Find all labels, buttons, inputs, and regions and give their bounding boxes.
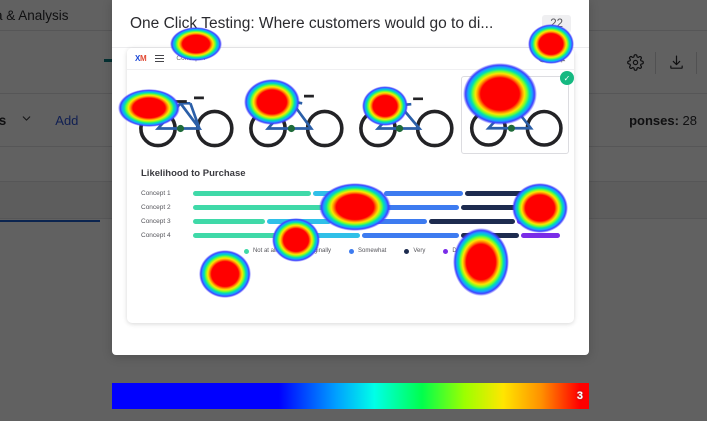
- chart-legend-dot: [295, 249, 300, 254]
- chart-legend-dot: [404, 249, 409, 254]
- modal-badge: 22: [542, 15, 571, 33]
- embedded-topbar: XM Concept T: [127, 48, 574, 70]
- chart-legend-item: Very: [404, 248, 425, 254]
- selected-check-icon: ✓: [560, 71, 574, 85]
- modal-header: One Click Testing: Where customers would…: [112, 0, 589, 48]
- embedded-screenshot: XM Concept T: [127, 48, 574, 323]
- chart-bar-segment: [331, 205, 367, 210]
- chart-bar-row: Concept 4: [141, 231, 560, 240]
- modal-title: One Click Testing: Where customers would…: [130, 15, 530, 33]
- chart-bar-segment: [193, 191, 311, 196]
- heatmap-gradient-bar: 3: [112, 383, 589, 409]
- chart-bar-segment: [267, 219, 332, 224]
- chart-bar-segment: [193, 219, 265, 224]
- chart-bar-label: Concept 1: [141, 190, 193, 197]
- chart-legend-label: Very: [413, 248, 425, 254]
- xm-logo: XM: [135, 54, 146, 63]
- chart-bar-segment: [429, 219, 515, 224]
- chart-bar-segment: [384, 191, 463, 196]
- bell-icon[interactable]: [557, 54, 566, 63]
- chart-bar-segment: [521, 233, 560, 238]
- chart-legend-item: Marginally: [295, 248, 331, 254]
- chart-title: Likelihood to Purchase: [141, 168, 560, 179]
- chart-bar-segment: [362, 233, 459, 238]
- chart-bar-track: [193, 233, 560, 238]
- screen-root: Data & Analysis: [0, 0, 707, 421]
- hamburger-menu-icon[interactable]: [155, 55, 164, 62]
- chart-bar-segment: [461, 205, 536, 210]
- chart-legend-item: Definitely: [443, 248, 477, 254]
- chart-legend-item: Somewhat: [349, 248, 386, 254]
- chart-bar-label: Concept 2: [141, 204, 193, 211]
- concept-thumbnail-4[interactable]: ✓: [461, 76, 569, 154]
- chart-legend-dot: [349, 249, 354, 254]
- chart-bar-segment: [538, 205, 560, 210]
- chart-bar-track: [193, 191, 560, 196]
- likelihood-chart: Likelihood to Purchase Concept 1Concept …: [127, 156, 574, 258]
- chart-bars: Concept 1Concept 2Concept 3Concept 4: [141, 189, 560, 240]
- embedded-topbar-icons: [538, 54, 566, 63]
- chart-legend: Not at allMarginallySomewhatVeryDefinite…: [141, 248, 560, 254]
- chart-bar-label: Concept 4: [141, 232, 193, 239]
- chart-bar-segment: [193, 205, 329, 210]
- chart-bar-segment: [193, 233, 301, 238]
- chart-bar-segment: [313, 191, 381, 196]
- chart-bar-segment: [333, 219, 426, 224]
- heatmap-gradient-value: 3: [577, 390, 583, 402]
- chart-legend-label: Somewhat: [358, 248, 386, 254]
- chart-bar-segment: [465, 191, 537, 196]
- chart-legend-dot: [443, 249, 448, 254]
- chart-bar-label: Concept 3: [141, 218, 193, 225]
- concept-thumbnail-2[interactable]: [241, 76, 349, 154]
- chart-legend-item: Not at all: [244, 248, 277, 254]
- chart-legend-dot: [244, 249, 249, 254]
- concept-thumbnail-3[interactable]: [351, 76, 459, 154]
- chart-legend-label: Marginally: [304, 248, 331, 254]
- chart-bar-segment: [303, 233, 360, 238]
- concept-thumbnail-1[interactable]: [131, 76, 239, 154]
- clock-icon[interactable]: [538, 54, 547, 63]
- breadcrumb: Concept T: [176, 55, 206, 62]
- chart-legend-label: Not at all: [253, 248, 277, 254]
- chart-bar-segment: [538, 191, 560, 196]
- chart-bar-segment: [517, 219, 560, 224]
- chart-bar-row: Concept 3: [141, 217, 560, 226]
- chart-bar-segment: [461, 233, 518, 238]
- chart-bar-row: Concept 2: [141, 203, 560, 212]
- xm-logo-m: M: [140, 54, 146, 63]
- chart-bar-row: Concept 1: [141, 189, 560, 198]
- chart-legend-label: Definitely: [452, 248, 477, 254]
- preview-modal: One Click Testing: Where customers would…: [112, 0, 589, 355]
- chart-bar-track: [193, 219, 560, 224]
- chart-bar-segment: [369, 205, 459, 210]
- concept-strip: ✓: [127, 70, 574, 156]
- chart-bar-track: [193, 205, 560, 210]
